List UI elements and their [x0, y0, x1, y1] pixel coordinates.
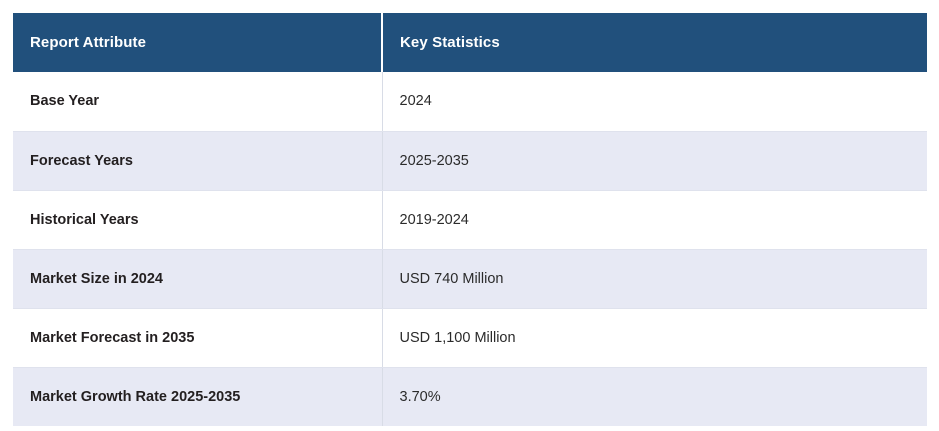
cell-attribute-market-size-2024: Market Size in 2024: [13, 249, 382, 308]
table-row: Market Size in 2024 USD 740 Million: [13, 249, 927, 308]
cell-value-base-year: 2024: [382, 72, 927, 131]
cell-value-market-growth-rate: 3.70%: [382, 367, 927, 426]
table-header-row: Report Attribute Key Statistics: [13, 13, 927, 72]
column-header-report-attribute: Report Attribute: [13, 13, 382, 72]
cell-value-market-size-2024: USD 740 Million: [382, 249, 927, 308]
cell-attribute-forecast-years: Forecast Years: [13, 131, 382, 190]
table-row: Market Growth Rate 2025-2035 3.70%: [13, 367, 927, 426]
cell-value-market-forecast-2035: USD 1,100 Million: [382, 308, 927, 367]
table-body: Base Year 2024 Forecast Years 2025-2035 …: [13, 72, 927, 426]
cell-attribute-market-forecast-2035: Market Forecast in 2035: [13, 308, 382, 367]
report-statistics-table: Report Attribute Key Statistics Base Yea…: [13, 13, 927, 426]
cell-attribute-historical-years: Historical Years: [13, 190, 382, 249]
table-row: Forecast Years 2025-2035: [13, 131, 927, 190]
cell-attribute-base-year: Base Year: [13, 72, 382, 131]
cell-value-historical-years: 2019-2024: [382, 190, 927, 249]
cell-value-forecast-years: 2025-2035: [382, 131, 927, 190]
report-statistics-table-container: Report Attribute Key Statistics Base Yea…: [13, 13, 927, 426]
cell-attribute-market-growth-rate: Market Growth Rate 2025-2035: [13, 367, 382, 426]
column-header-key-statistics: Key Statistics: [382, 13, 927, 72]
table-header: Report Attribute Key Statistics: [13, 13, 927, 72]
table-row: Base Year 2024: [13, 72, 927, 131]
table-row: Market Forecast in 2035 USD 1,100 Millio…: [13, 308, 927, 367]
table-row: Historical Years 2019-2024: [13, 190, 927, 249]
